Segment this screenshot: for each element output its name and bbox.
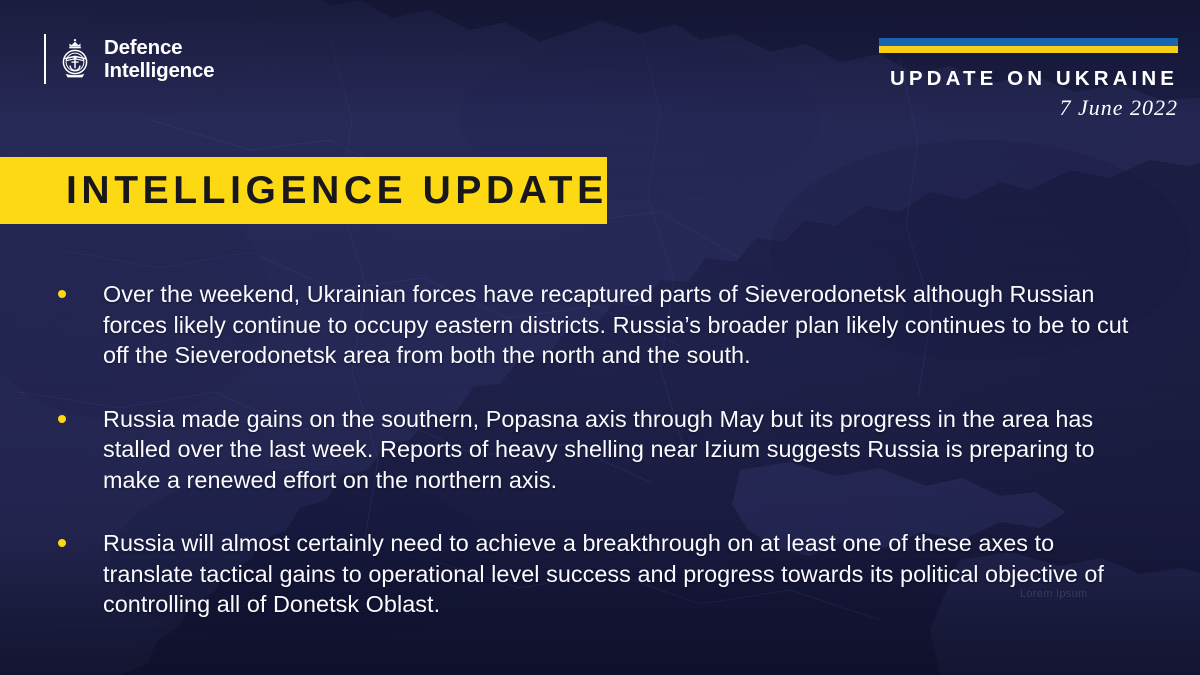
flag-stripe-blue [879,38,1178,46]
list-item: Over the weekend, Ukrainian forces have … [58,279,1148,371]
watermark-text: Lorem Ipsum [1020,588,1088,600]
update-on-ukraine-title: UPDATE ON UKRAINE [890,66,1178,92]
update-heading-block: UPDATE ON UKRAINE 7 June 2022 [890,66,1178,122]
bullet-dot-icon [58,415,66,423]
bullet-list: Over the weekend, Ukrainian forces have … [58,279,1148,620]
brand-line-1: Defence [104,36,214,59]
brand-name: Defence Intelligence [104,36,214,82]
brand-line-2: Intelligence [104,59,214,82]
update-date: 7 June 2022 [890,94,1178,123]
bullet-text: Russia made gains on the southern, Popas… [103,404,1133,496]
list-item: Russia will almost certainly need to ach… [58,528,1148,620]
bullet-text: Over the weekend, Ukrainian forces have … [103,279,1133,371]
slide-content: Defence Intelligence UPDATE ON UKRAINE 7… [0,0,1200,675]
list-item: Russia made gains on the southern, Popas… [58,404,1148,496]
bullet-dot-icon [58,539,66,547]
flag-stripe-yellow [879,46,1178,54]
bullet-dot-icon [58,290,66,298]
ukraine-flag-bar [879,38,1178,53]
intelligence-update-banner: INTELLIGENCE UPDATE [0,157,607,224]
banner-label: INTELLIGENCE UPDATE [0,169,608,213]
royal-crest-icon [58,36,92,82]
bullet-text: Russia will almost certainly need to ach… [103,528,1133,620]
vertical-rule-divider [44,34,46,84]
defence-intelligence-logo: Defence Intelligence [44,34,214,84]
intelligence-update-slide: Defence Intelligence UPDATE ON UKRAINE 7… [0,0,1200,675]
